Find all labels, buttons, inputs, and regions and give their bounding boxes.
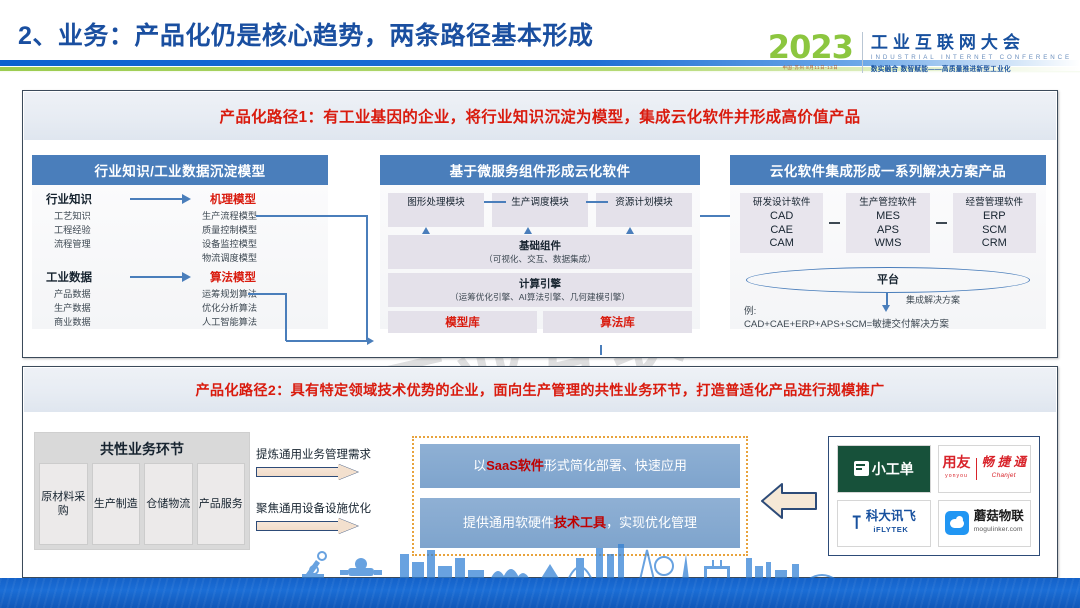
integration-down-arrow <box>886 293 888 307</box>
statement-dashed-box: 以SaaS软件形式简化部署、快速应用 提供通用软硬件技术工具，实现优化管理 <box>412 436 748 556</box>
up-arrow-module-1 <box>422 227 430 234</box>
library-algorithm: 算法库 <box>543 311 692 333</box>
software-production-name: 生产管控软件 <box>848 197 927 209</box>
logo-name-en: INDUSTRIAL INTERNET CONFERENCE <box>871 54 1072 61</box>
connector-algorithm-lib-up <box>600 345 602 355</box>
logo-year-block: 2023 中国·苏州 8月11日-13日 <box>768 32 862 71</box>
conference-logo: 2023 中国·苏州 8月11日-13日 工业互联网大会 INDUSTRIAL … <box>768 32 1072 73</box>
path1-col1-header: 行业知识/工业数据沉淀模型 <box>32 155 328 185</box>
software-management-name: 经营管理软件 <box>955 197 1034 209</box>
path1-col3-body: 研发设计软件 CAD CAE CAM 生产管控软件 MES APS WMS 经营… <box>730 185 1046 329</box>
software-management: 经营管理软件 ERP SCM CRM <box>953 193 1036 253</box>
solution-software-row: 研发设计软件 CAD CAE CAM 生产管控软件 MES APS WMS 经营… <box>740 193 1036 253</box>
list-mechanism-model: 生产流程模型 质量控制模型 设备监控模型 物流调度模型 <box>202 209 257 265</box>
business-cell-logistics: 仓储物流 <box>144 463 193 545</box>
label-mechanism-model: 机理模型 <box>210 191 256 207</box>
mogulinker-name-en: mogulinker.com <box>974 523 1024 536</box>
iflytek-mark-icon: ⊺ <box>852 514 862 533</box>
iflytek-name-en: iFLYTEK <box>866 523 916 536</box>
module-graphics: 图形处理模块 <box>388 193 484 227</box>
layer-compute-engine: 计算引擎 （运筹优化引擎、AI算法引擎、几何建模引擎） <box>388 273 692 307</box>
integration-solution-label: 集成解决方案 <box>906 293 960 306</box>
left-pointing-arrow-icon <box>760 480 818 522</box>
path2-banner: 产品化路径2：具有特定领域技术优势的企业，面向生产管理的共性业务环节，打造普适化… <box>24 368 1056 412</box>
xiaogongdan-name: 小工单 <box>872 459 914 479</box>
cloud-software-stack: 基础组件 （可视化、交互、数据集成） 计算引擎 （运筹优化引擎、AI算法引擎、几… <box>388 235 692 333</box>
path1-column-cloud-software: 基于微服务组件形成云化软件 图形处理模块 生产调度模块 资源计划模块 基础组件 … <box>380 155 700 329</box>
path1-banner: 产品化路径1：有工业基因的企业，将行业知识沉淀为模型，集成云化软件并形成高价值产… <box>24 92 1056 140</box>
iflytek-name: 科大讯飞 iFLYTEK <box>866 510 916 536</box>
business-cell-manufacturing: 生产制造 <box>92 463 141 545</box>
connector-col2-to-col3 <box>700 215 730 217</box>
software-separator-1 <box>829 222 840 224</box>
logo-iflytek[interactable]: ⊺ 科大讯飞 iFLYTEK <box>837 500 931 548</box>
list-industrial-data: 产品数据 生产数据 商业数据 <box>54 287 91 329</box>
module-production-scheduling: 生产调度模块 <box>492 193 588 227</box>
statement-tools-prefix: 提供通用软硬件 <box>463 515 554 530</box>
logo-year: 2023 <box>768 32 853 62</box>
logo-divider <box>862 32 863 73</box>
layer-base-detail: （可视化、交互、数据集成） <box>390 253 690 265</box>
software-production-items: MES APS WMS <box>848 210 927 251</box>
software-production: 生产管控软件 MES APS WMS <box>846 193 929 253</box>
up-arrow-module-3 <box>626 227 634 234</box>
yonyou-name-en: yonyou <box>943 469 971 483</box>
logo-mogulinker[interactable]: 蘑菇物联 mogulinker.com <box>938 500 1032 548</box>
layer-compute-detail: （运筹优化引擎、AI算法引擎、几何建模引擎） <box>390 291 690 303</box>
example-formula: CAD+CAE+ERP+APS+SCM=敏捷交付解决方案 <box>744 316 949 330</box>
logo-slogan: 数实融合 数智赋能——高质量推进新型工业化 <box>871 63 1072 73</box>
statement-saas: 以SaaS软件形式简化部署、快速应用 <box>420 444 740 488</box>
layer-base-title: 基础组件 <box>390 239 690 253</box>
connector-algorithm-down <box>285 293 287 341</box>
footer-band <box>0 578 1080 608</box>
need-label-equipment: 聚焦通用设备设施优化 <box>256 500 371 516</box>
page-title: 2、业务：产品化仍是核心趋势，两条路径基本形成 <box>18 16 593 52</box>
connector-mechanism-down <box>366 215 368 341</box>
logo-text-block: 工业互联网大会 INDUSTRIAL INTERNET CONFERENCE 数… <box>871 32 1072 73</box>
platform-label: 平台 <box>730 271 1046 287</box>
statement-saas-suffix: 形式简化部署、快速应用 <box>544 457 687 475</box>
logo-xiaogongdan[interactable]: 小工单 <box>837 445 931 493</box>
business-process-cells: 原材料采购 生产制造 仓储物流 产品服务 <box>39 463 245 545</box>
path1-col1-body: 行业知识 工艺知识 工程经验 流程管理 机理模型 生产流程模型 质量控制模型 设… <box>32 185 328 329</box>
slide-root: 2、业务：产品化仍是核心趋势，两条路径基本形成 2023 中国·苏州 8月11日… <box>0 0 1080 608</box>
logo-name-cn: 工业互联网大会 <box>871 34 1072 52</box>
layer-base-components: 基础组件 （可视化、交互、数据集成） <box>388 235 692 269</box>
connector-algorithm-top <box>248 293 286 295</box>
software-management-items: ERP SCM CRM <box>955 210 1034 251</box>
business-process-box: 共性业务环节 原材料采购 生产制造 仓储物流 产品服务 <box>34 432 250 550</box>
yonyou-chanjet-divider <box>976 458 977 480</box>
connector-to-model-lib <box>286 340 368 342</box>
mogulinker-name: 蘑菇物联 mogulinker.com <box>974 510 1024 536</box>
label-algorithm-model: 算法模型 <box>210 269 256 285</box>
path1-col2-body: 图形处理模块 生产调度模块 资源计划模块 基础组件 （可视化、交互、数据集成） … <box>380 185 700 329</box>
path1-banner-text: 产品化路径1：有工业基因的企业，将行业知识沉淀为模型，集成云化软件并形成高价值产… <box>220 105 861 127</box>
software-rnd-items: CAD CAE CAM <box>742 210 821 251</box>
statement-saas-prefix: 以 <box>473 457 486 475</box>
software-rnd-name: 研发设计软件 <box>742 197 821 209</box>
up-arrow-module-2 <box>524 227 532 234</box>
connector-arrowhead-model-lib <box>367 337 374 345</box>
logo-year-subtitle: 中国·苏州 8月11日-13日 <box>768 65 853 71</box>
path1-col2-header: 基于微服务组件形成云化软件 <box>380 155 700 185</box>
module-link-2 <box>586 201 608 203</box>
statement-saas-highlight: SaaS软件 <box>486 457 544 475</box>
microservice-module-row: 图形处理模块 生产调度模块 资源计划模块 <box>388 193 692 227</box>
company-logo-grid: 小工单 用友 yonyou 畅 捷 通 Chanjet ⊺ 科大讯飞 <box>828 436 1040 556</box>
chanjet-name: 畅 捷 通 Chanjet <box>982 456 1026 482</box>
list-industry-knowledge: 工艺知识 工程经验 流程管理 <box>54 209 91 251</box>
business-process-title: 共性业务环节 <box>39 437 245 463</box>
path1-column-solutions: 云化软件集成形成一系列解决方案产品 研发设计软件 CAD CAE CAM 生产管… <box>730 155 1046 329</box>
path1-column-knowledge: 行业知识/工业数据沉淀模型 行业知识 工艺知识 工程经验 流程管理 机理模型 生… <box>32 155 328 329</box>
block-arrow-equipment <box>256 518 360 534</box>
connector-mechanism-top <box>256 215 368 217</box>
yonyou-name: 用友 yonyou <box>943 455 971 483</box>
chanjet-name-en: Chanjet <box>982 469 1026 482</box>
software-separator-2 <box>936 222 947 224</box>
label-industrial-data: 工业数据 <box>46 269 92 285</box>
library-row: 模型库 算法库 <box>388 311 692 333</box>
library-model: 模型库 <box>388 311 537 333</box>
module-link-1 <box>484 201 506 203</box>
layer-compute-title: 计算引擎 <box>390 277 690 291</box>
business-cell-procurement: 原材料采购 <box>39 463 88 545</box>
xiaogongdan-mark-icon <box>854 461 869 476</box>
statement-tools-highlight: 技术工具 <box>554 515 606 530</box>
path1-col3-header: 云化软件集成形成一系列解决方案产品 <box>730 155 1046 185</box>
statement-tools-suffix: ，实现优化管理 <box>606 515 697 530</box>
path2-banner-text: 产品化路径2：具有特定领域技术优势的企业，面向生产管理的共性业务环节，打造普适化… <box>195 380 884 400</box>
need-label-business: 提炼通用业务管理需求 <box>256 446 371 462</box>
mogulinker-cloud-icon <box>945 511 969 535</box>
logo-yonyou-chanjet[interactable]: 用友 yonyou 畅 捷 通 Chanjet <box>938 445 1032 493</box>
module-resource-planning: 资源计划模块 <box>596 193 692 227</box>
block-arrow-business <box>256 464 360 480</box>
label-industry-knowledge: 行业知识 <box>46 191 92 207</box>
example-label: 例: <box>744 303 756 317</box>
business-cell-service: 产品服务 <box>197 463 246 545</box>
software-rnd: 研发设计软件 CAD CAE CAM <box>740 193 823 253</box>
